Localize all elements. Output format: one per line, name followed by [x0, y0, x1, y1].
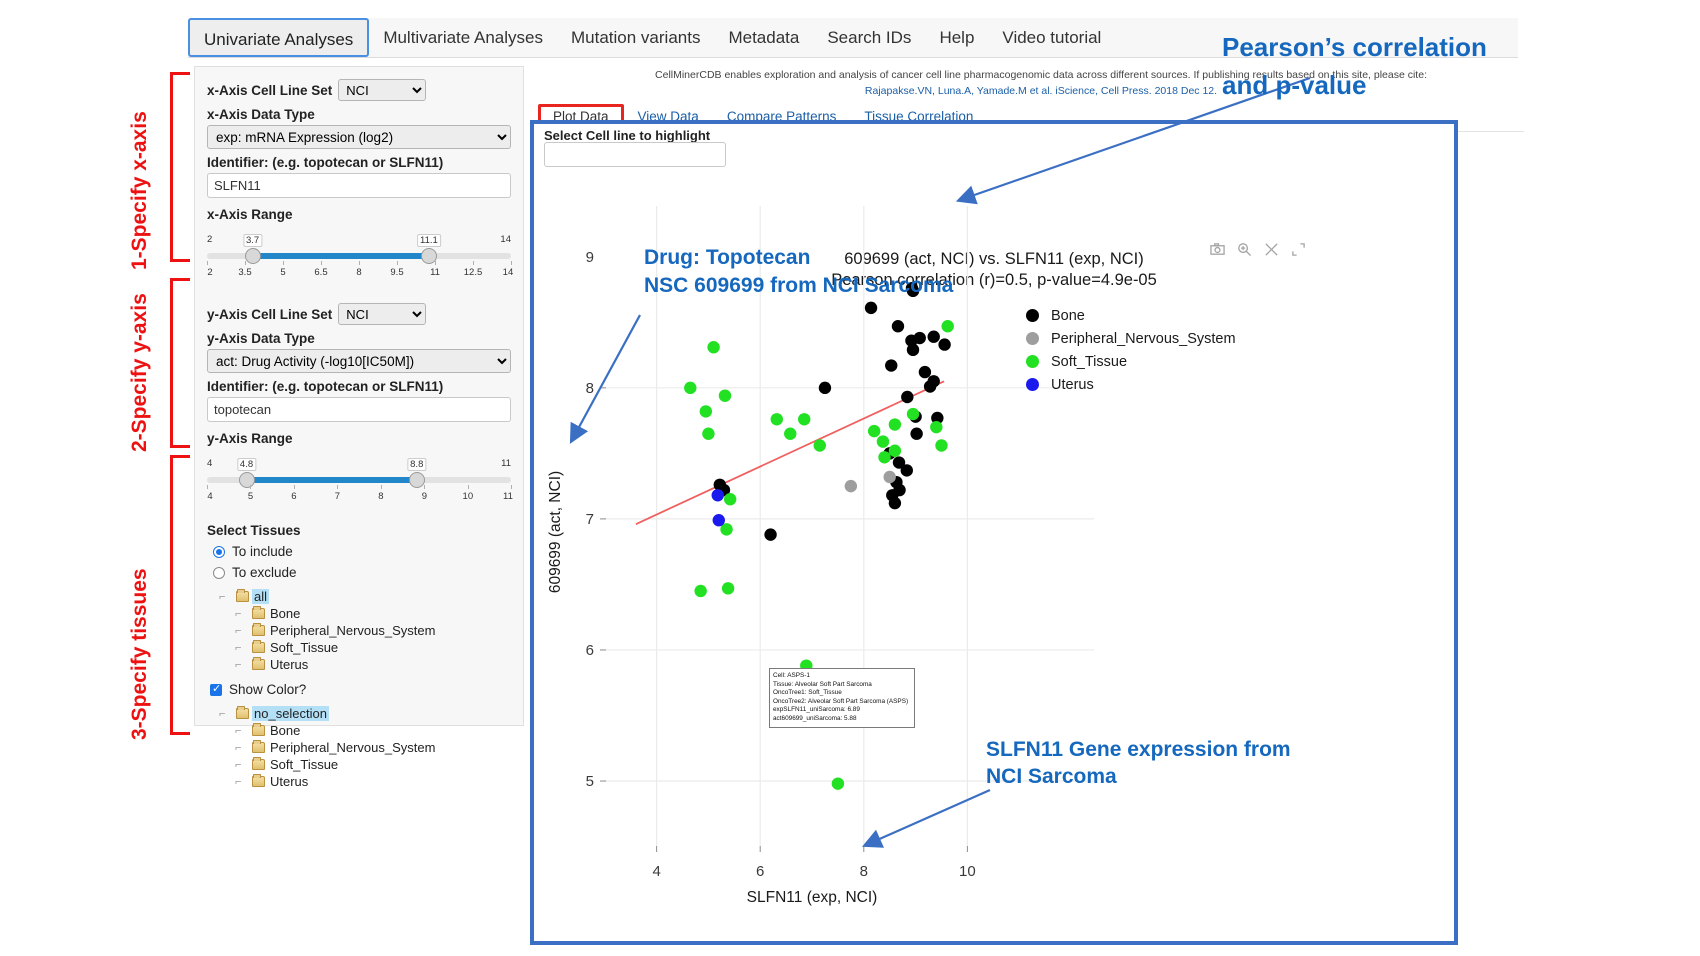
y-tick-label: 6	[586, 642, 594, 659]
y-axis-identifier-label: Identifier: (e.g. topotecan or SLFN11)	[207, 379, 511, 394]
folder-icon	[252, 725, 265, 736]
y-range-min-end: 4	[207, 458, 212, 469]
y-axis-data-type-label: y-Axis Data Type	[207, 331, 511, 346]
tree-branch-icon: ⌐	[235, 625, 249, 637]
legend-item-bone[interactable]: Bone	[1026, 304, 1236, 327]
scatter-point[interactable]	[901, 391, 913, 403]
scatter-point[interactable]	[889, 445, 901, 457]
tree-label-all[interactable]: all	[252, 589, 269, 604]
tree-label-soft-tissue-2[interactable]: Soft_Tissue	[268, 757, 340, 772]
x-axis-range-slider[interactable]: 2 14 3.7 11.1 2 3.5 5 6.5 8 9.5 11 12.5 …	[207, 235, 511, 285]
tree-label-no-selection[interactable]: no_selection	[252, 706, 329, 721]
legend-item-uterus[interactable]: Uterus	[1026, 373, 1236, 396]
x-axis-data-type-select[interactable]: exp: mRNA Expression (log2)	[207, 125, 511, 149]
x-range-max-end: 14	[500, 234, 511, 245]
x-tick-7: 12.5	[464, 267, 483, 278]
folder-icon	[252, 608, 265, 619]
tree-item-soft-tissue[interactable]: ⌐ Soft_Tissue	[235, 639, 511, 656]
x-axis-data-type-label: x-Axis Data Type	[207, 107, 511, 122]
scatter-point[interactable]	[910, 428, 922, 440]
tree-branch-icon: ⌐	[235, 659, 249, 671]
y-axis-cell-line-set-label: y-Axis Cell Line Set	[207, 307, 332, 322]
scatter-point[interactable]	[707, 341, 719, 353]
scatter-point[interactable]	[878, 451, 890, 463]
legend-label-pns: Peripheral_Nervous_System	[1051, 331, 1236, 347]
radio-include-icon[interactable]	[213, 546, 225, 558]
plot-legend: Bone Peripheral_Nervous_System Soft_Tiss…	[1026, 304, 1236, 396]
annotation-specify-tissues: 3-Specify tissues	[128, 568, 152, 740]
x-range-low-value: 3.7	[243, 234, 262, 247]
x-axis-cell-line-set-select[interactable]: NCI	[338, 79, 426, 101]
tree-label-pns-2[interactable]: Peripheral_Nervous_System	[268, 740, 437, 755]
y-range-ticks: 4 5 6 7 8 9 10 11	[207, 485, 511, 505]
annotation-drug-line-2: NSC 609699 from NCI Sarcoma	[644, 274, 953, 298]
y-axis-range-label: y-Axis Range	[207, 431, 511, 446]
scatter-point[interactable]	[883, 471, 895, 483]
scatter-point[interactable]	[819, 382, 831, 394]
y-tick-7: 11	[503, 491, 513, 502]
x-tick-0: 2	[207, 267, 212, 278]
folder-icon	[252, 776, 265, 787]
y-range-max-end: 11	[501, 458, 511, 469]
tab-metadata[interactable]: Metadata	[714, 18, 813, 57]
x-tick-3: 6.5	[314, 267, 327, 278]
x-tick-2: 5	[280, 267, 285, 278]
scatter-point[interactable]	[935, 439, 947, 451]
tree-label-bone[interactable]: Bone	[268, 606, 302, 621]
folder-icon	[252, 759, 265, 770]
tree-branch-icon: ⌐	[235, 759, 249, 771]
y-range-low-value: 4.8	[237, 458, 256, 471]
y-tick-4: 8	[378, 491, 383, 502]
main-panel: CellMinerCDB enables exploration and ana…	[530, 62, 1530, 952]
bracket-x-axis	[170, 72, 190, 262]
scatter-point[interactable]	[832, 777, 844, 789]
scatter-point[interactable]	[722, 582, 734, 594]
scatter-point[interactable]	[885, 359, 897, 371]
y-axis-cell-line-set-select[interactable]: NCI	[338, 303, 426, 325]
x-range-high-value: 11.1	[417, 234, 441, 247]
scatter-point[interactable]	[845, 480, 857, 492]
bracket-y-axis	[170, 278, 190, 448]
scatter-point[interactable]	[712, 489, 724, 501]
tree-label-soft-tissue[interactable]: Soft_Tissue	[268, 640, 340, 655]
scatter-point[interactable]	[901, 464, 913, 476]
tree-item-soft-tissue-2[interactable]: ⌐ Soft_Tissue	[235, 756, 511, 773]
scatter-point[interactable]	[877, 435, 889, 447]
tree-root-no-selection[interactable]: ⌐ no_selection	[219, 705, 511, 722]
tree-item-bone-2[interactable]: ⌐ Bone	[235, 722, 511, 739]
tab-univariate-analyses[interactable]: Univariate Analyses	[188, 18, 369, 57]
y-tick-5: 9	[422, 491, 427, 502]
legend-dot-uterus	[1026, 378, 1039, 391]
x-range-min-end: 2	[207, 234, 212, 245]
x-tick-1: 3.5	[238, 267, 251, 278]
tooltip-line-tissue: Tissue: Alveolar Soft Part Sarcoma	[773, 681, 911, 690]
scatter-point[interactable]	[713, 514, 725, 526]
legend-label-soft-tissue: Soft_Tissue	[1051, 354, 1127, 370]
show-color-label: Show Color?	[229, 682, 306, 697]
x-tick-label: 6	[756, 863, 764, 880]
folder-icon	[236, 708, 249, 719]
annotation-drug-line-1: Drug: Topotecan	[644, 246, 810, 270]
tooltip-line-exp: expSLFN11_uniSarcoma: 6.89	[773, 706, 911, 715]
tab-video-tutorial[interactable]: Video tutorial	[988, 18, 1115, 57]
y-axis-cell-line-set-row: y-Axis Cell Line Set NCI	[207, 303, 511, 325]
legend-dot-pns	[1026, 332, 1039, 345]
x-axis-identifier-input[interactable]	[207, 173, 511, 198]
scatter-point[interactable]	[764, 528, 776, 540]
y-tick-0: 4	[207, 491, 212, 502]
scatter-point[interactable]	[814, 439, 826, 451]
tissues-exclude-label: To exclude	[232, 565, 297, 580]
annotation-pearson-line-2: and p-value	[1222, 70, 1366, 101]
tree-label-pns[interactable]: Peripheral_Nervous_System	[268, 623, 437, 638]
y-range-fill	[247, 477, 417, 483]
scatter-point[interactable]	[907, 344, 919, 356]
tree-label-bone-2[interactable]: Bone	[268, 723, 302, 738]
y-axis-identifier-input[interactable]	[207, 397, 511, 422]
scatter-point[interactable]	[928, 331, 940, 343]
x-axis-identifier-label: Identifier: (e.g. topotecan or SLFN11)	[207, 155, 511, 170]
checkbox-show-color-icon[interactable]	[210, 684, 222, 696]
y-axis-range-slider[interactable]: 4 11 4.8 8.8 4 5 6 7 8 9 10 11	[207, 459, 511, 509]
scatter-point[interactable]	[889, 418, 901, 430]
scatter-point[interactable]	[919, 366, 931, 378]
scatter-point[interactable]	[942, 320, 954, 332]
tree-item-pns-2[interactable]: ⌐ Peripheral_Nervous_System	[235, 739, 511, 756]
annotation-slfn11-line-1: SLFN11 Gene expression from	[986, 738, 1291, 762]
folder-icon	[252, 625, 265, 636]
tab-mutation-variants[interactable]: Mutation variants	[557, 18, 714, 57]
annotation-pearson-line-1: Pearson’s correlation	[1222, 32, 1487, 63]
folder-icon	[252, 742, 265, 753]
tree-label-uterus-2[interactable]: Uterus	[268, 774, 310, 789]
x-range-fill	[253, 253, 429, 259]
scatter-point[interactable]	[702, 428, 714, 440]
folder-icon	[252, 659, 265, 670]
x-tick-label: 4	[652, 863, 660, 880]
exclude-tissue-tree: ⌐ no_selection ⌐ Bone ⌐ Peripheral_Nervo…	[219, 705, 511, 790]
tab-help[interactable]: Help	[925, 18, 988, 57]
tree-branch-icon: ⌐	[235, 742, 249, 754]
include-tissue-tree: ⌐ all ⌐ Bone ⌐ Peripheral_Nervous_System…	[219, 588, 511, 673]
select-tissues-title: Select Tissues	[207, 523, 511, 538]
legend-item-soft-tissue[interactable]: Soft_Tissue	[1026, 350, 1236, 373]
folder-icon	[236, 591, 249, 602]
scatter-point[interactable]	[798, 413, 810, 425]
tree-label-uterus[interactable]: Uterus	[268, 657, 310, 672]
tooltip-line-act: act609699_uniSarcoma: 5.88	[773, 715, 911, 724]
legend-dot-soft-tissue	[1026, 355, 1039, 368]
scatter-point[interactable]	[719, 389, 731, 401]
annotation-specify-y-axis: 2-Specify y-axis	[128, 293, 152, 452]
bracket-tissues	[170, 455, 190, 735]
y-tick-1: 5	[248, 491, 253, 502]
scatter-point[interactable]	[924, 380, 936, 392]
legend-label-uterus: Uterus	[1051, 377, 1094, 393]
x-tick-label: 8	[860, 863, 868, 880]
scatter-point[interactable]	[865, 302, 877, 314]
tab-multivariate-analyses[interactable]: Multivariate Analyses	[369, 18, 557, 57]
tissues-exclude-radio-row[interactable]: To exclude	[213, 565, 511, 580]
tree-item-uterus-2[interactable]: ⌐ Uterus	[235, 773, 511, 790]
scatter-point[interactable]	[930, 421, 942, 433]
x-range-ticks: 2 3.5 5 6.5 8 9.5 11 12.5 14	[207, 261, 511, 281]
control-sidebar: x-Axis Cell Line Set NCI x-Axis Data Typ…	[194, 66, 524, 726]
scatter-point[interactable]	[907, 408, 919, 420]
folder-icon	[252, 642, 265, 653]
x-tick-4: 8	[356, 267, 361, 278]
x-tick-8: 14	[503, 267, 514, 278]
scatter-point[interactable]	[892, 320, 904, 332]
scatter-point[interactable]	[889, 497, 901, 509]
annotation-specify-x-axis: 1-Specify x-axis	[128, 111, 152, 270]
scatter-point[interactable]	[724, 493, 736, 505]
tooltip-line-oncotree1: OncoTree1: Soft_Tissue	[773, 689, 911, 698]
tree-root-all[interactable]: ⌐ all	[219, 588, 511, 605]
x-axis-cell-line-set-label: x-Axis Cell Line Set	[207, 83, 332, 98]
tree-children-exclude: ⌐ Bone ⌐ Peripheral_Nervous_System ⌐ Sof…	[235, 722, 511, 790]
scatter-point[interactable]	[914, 332, 926, 344]
y-tick-3: 7	[335, 491, 340, 502]
y-axis-title: 609699 (act, NCI)	[547, 471, 564, 593]
tooltip-line-cell: Cell: ASPS-1	[773, 672, 911, 681]
x-axis-title: SLFN11 (exp, NCI)	[747, 889, 878, 906]
y-tick-label: 7	[586, 511, 594, 528]
tree-branch-icon: ⌐	[235, 776, 249, 788]
x-tick-6: 11	[430, 267, 440, 278]
tooltip-line-oncotree2: OncoTree2: Alveolar Soft Part Sarcoma (A…	[773, 698, 911, 707]
plot-container: Select Cell line to highlight 609699 (ac…	[530, 120, 1458, 945]
tree-item-uterus[interactable]: ⌐ Uterus	[235, 656, 511, 673]
tree-branch-icon: ⌐	[235, 725, 249, 737]
tree-children-include: ⌐ Bone ⌐ Peripheral_Nervous_System ⌐ Sof…	[235, 605, 511, 673]
y-tick-label: 5	[586, 773, 594, 790]
y-tick-label: 9	[586, 249, 594, 266]
scatter-point[interactable]	[684, 382, 696, 394]
y-axis-data-type-select[interactable]: act: Drug Activity (-log10[IC50M])	[207, 349, 511, 373]
y-tick-2: 6	[291, 491, 296, 502]
show-color-row[interactable]: Show Color?	[210, 682, 511, 697]
x-tick-label: 10	[959, 863, 976, 880]
radio-exclude-icon[interactable]	[213, 567, 225, 579]
legend-label-bone: Bone	[1051, 308, 1085, 324]
scatter-point[interactable]	[700, 405, 712, 417]
scatter-point[interactable]	[771, 413, 783, 425]
x-axis-cell-line-set-row: x-Axis Cell Line Set NCI	[207, 79, 511, 101]
x-axis-range-label: x-Axis Range	[207, 207, 511, 222]
y-tick-label: 8	[586, 380, 594, 397]
tree-expander-icon[interactable]: ⌐	[219, 591, 233, 603]
scatter-point[interactable]	[694, 585, 706, 597]
y-range-high-value: 8.8	[407, 458, 426, 471]
legend-dot-bone	[1026, 309, 1039, 322]
scatter-point[interactable]	[784, 428, 796, 440]
y-tick-6: 10	[463, 491, 474, 502]
point-tooltip: Cell: ASPS-1 Tissue: Alveolar Soft Part …	[769, 668, 915, 728]
tree-branch-icon: ⌐	[235, 642, 249, 654]
scatter-point[interactable]	[868, 425, 880, 437]
tree-expander-icon[interactable]: ⌐	[219, 708, 233, 720]
tree-branch-icon: ⌐	[235, 608, 249, 620]
x-tick-5: 9.5	[390, 267, 403, 278]
tree-item-bone[interactable]: ⌐ Bone	[235, 605, 511, 622]
tissues-include-radio-row[interactable]: To include	[213, 544, 511, 559]
scatter-point[interactable]	[938, 338, 950, 350]
annotation-slfn11-line-2: NCI Sarcoma	[986, 765, 1117, 789]
tissues-include-label: To include	[232, 544, 293, 559]
tree-item-pns[interactable]: ⌐ Peripheral_Nervous_System	[235, 622, 511, 639]
tab-search-ids[interactable]: Search IDs	[813, 18, 925, 57]
legend-item-pns[interactable]: Peripheral_Nervous_System	[1026, 327, 1236, 350]
